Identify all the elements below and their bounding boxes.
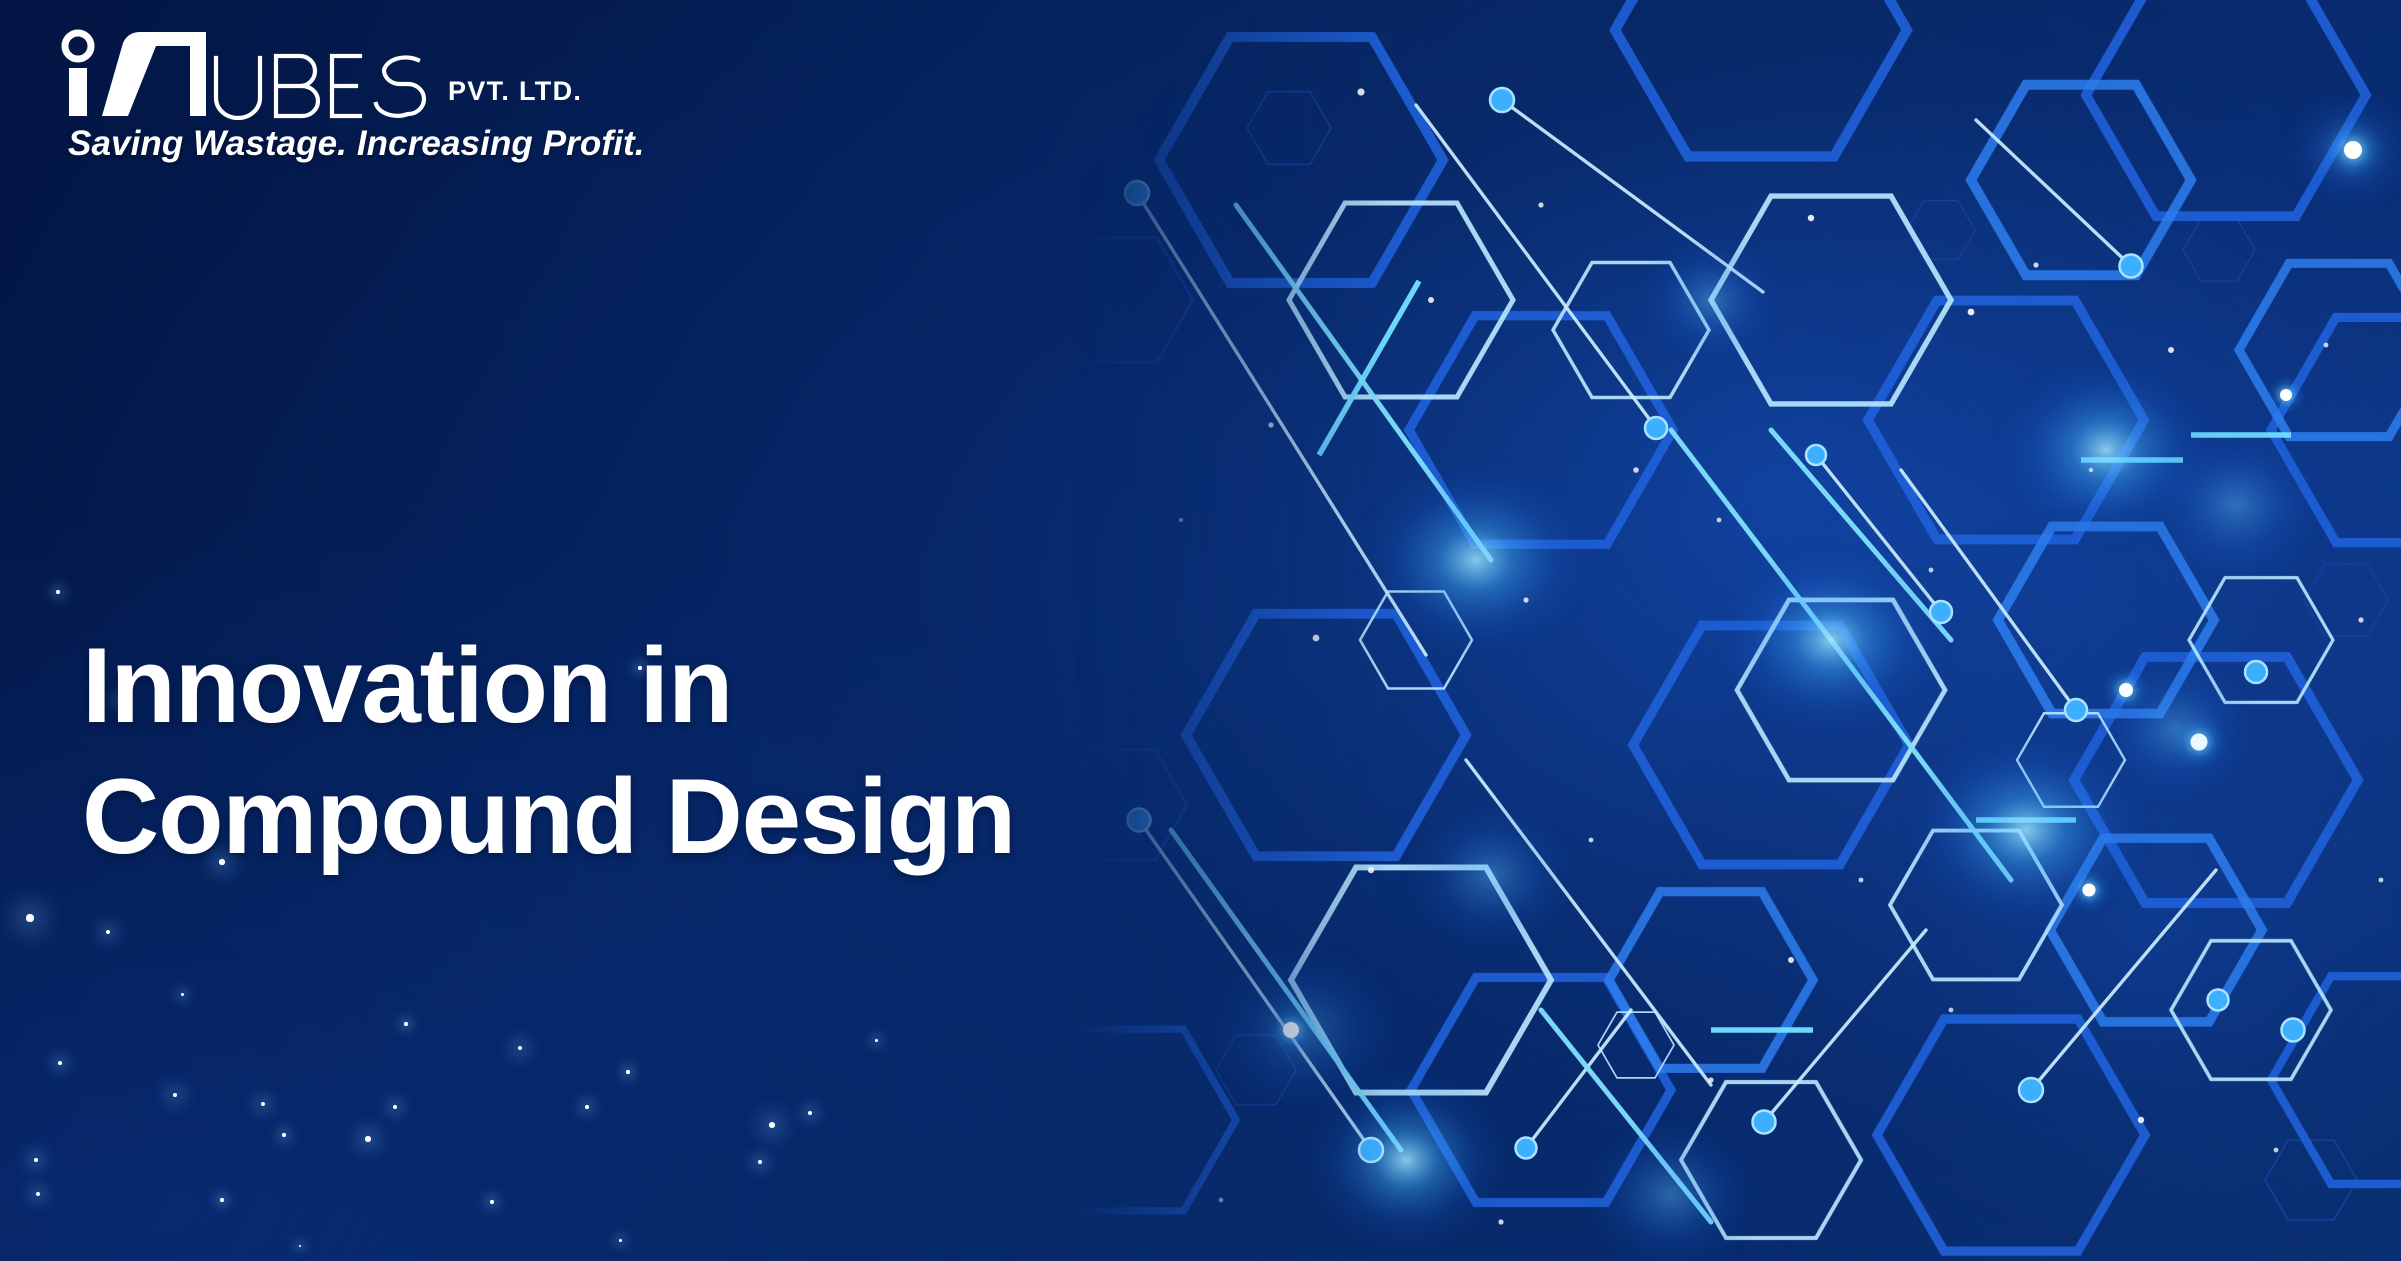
light-speck xyxy=(299,1245,302,1248)
light-speck xyxy=(808,1111,812,1115)
light-speck xyxy=(365,1136,370,1141)
light-speck xyxy=(518,1046,523,1051)
light-speck xyxy=(58,1061,62,1065)
light-speck xyxy=(585,1105,589,1109)
brand-logo[interactable]: PVT. LTD. Saving Wastage. Increasing Pro… xyxy=(44,22,764,164)
light-speck xyxy=(619,1239,622,1242)
light-speck xyxy=(181,993,184,996)
light-speck xyxy=(758,1160,762,1164)
light-speck xyxy=(36,1192,40,1196)
hero-banner: PVT. LTD. Saving Wastage. Increasing Pro… xyxy=(0,0,2401,1261)
light-speck xyxy=(626,1070,629,1073)
light-speck xyxy=(404,1022,407,1025)
logo-suffix: PVT. LTD. xyxy=(448,76,582,107)
hero-headline: Innovation in Compound Design xyxy=(82,620,1015,881)
light-speck xyxy=(261,1102,265,1106)
light-speck xyxy=(769,1122,775,1128)
light-speck xyxy=(56,590,59,593)
light-speck xyxy=(490,1200,493,1203)
light-speck xyxy=(173,1093,178,1098)
light-speck xyxy=(34,1158,38,1162)
light-speck xyxy=(220,1198,223,1201)
brand-tagline: Saving Wastage. Increasing Profit. xyxy=(68,124,764,164)
hexagon-network-graphic xyxy=(1071,0,2401,1261)
light-speck xyxy=(875,1039,878,1042)
logo-wordmark: PVT. LTD. xyxy=(44,22,764,120)
light-speck xyxy=(393,1105,397,1109)
light-speck xyxy=(282,1133,285,1136)
light-speck xyxy=(26,914,33,921)
light-speck xyxy=(106,930,110,934)
